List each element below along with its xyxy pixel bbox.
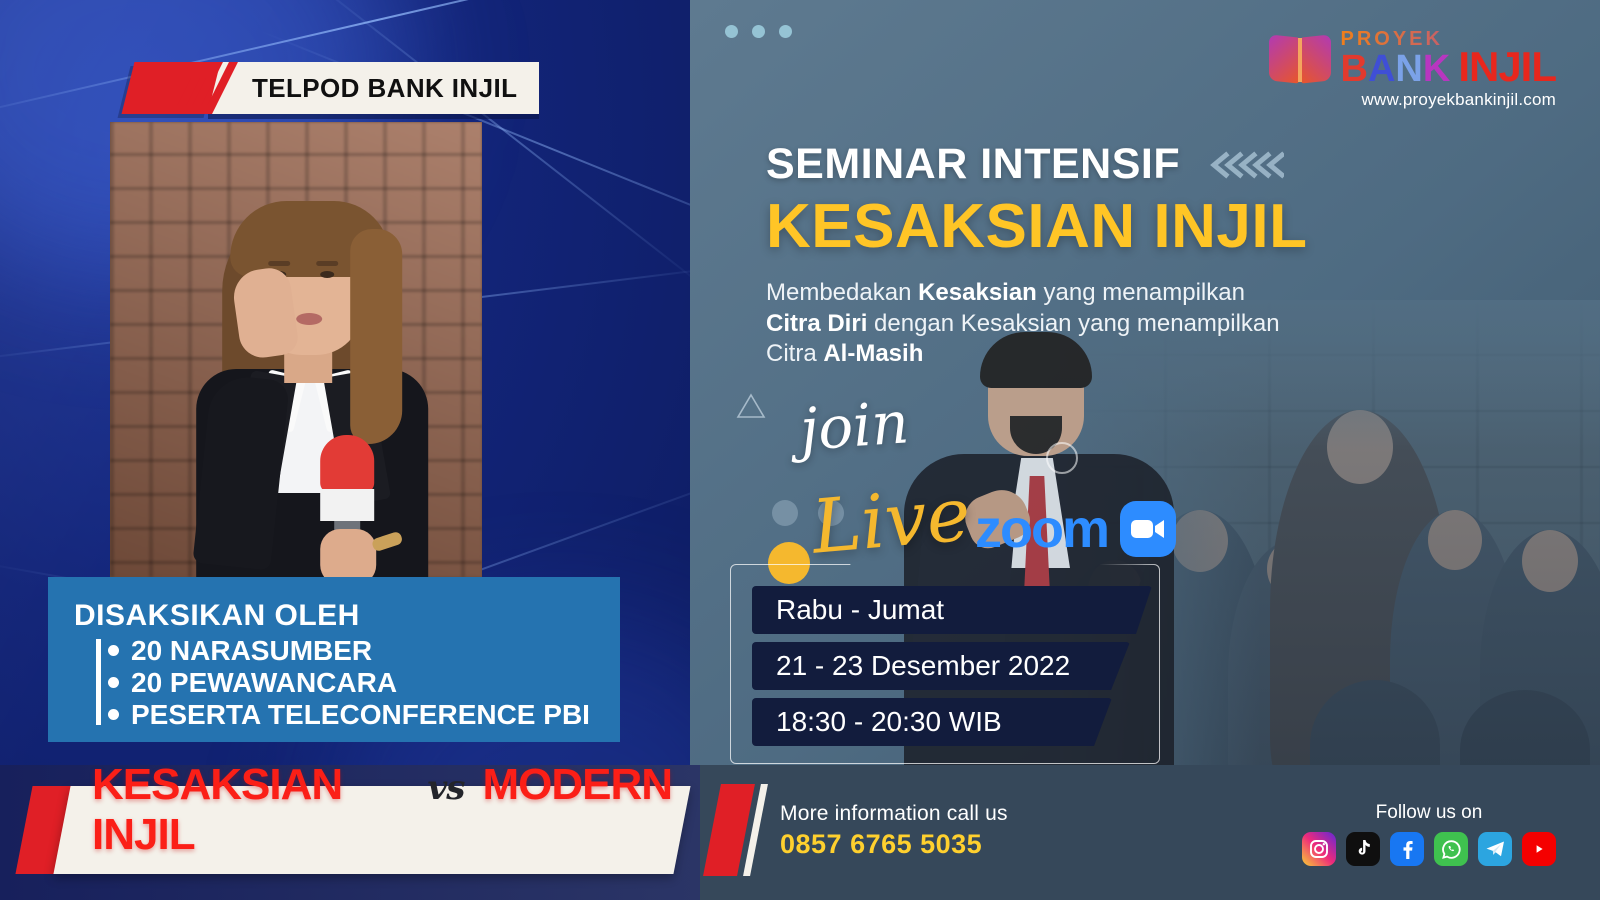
social-icons — [1302, 832, 1556, 866]
zoom-wordmark: zoom — [975, 498, 1108, 560]
logo-letter-n: N — [1395, 52, 1422, 87]
schedule-days: Rabu - Jumat — [752, 586, 1152, 634]
website-url: www.proyekbankinjil.com — [1269, 90, 1557, 110]
list-item-label: 20 PEWAWANCARA — [131, 667, 397, 699]
badge-label: TELPOD BANK INJIL — [208, 62, 539, 114]
banner-right-label: MODERN — [482, 760, 672, 810]
logo-letter-a: A — [1368, 52, 1395, 87]
description-text: Membedakan Kesaksian yang menampilkan Ci… — [766, 278, 1406, 370]
join-script-text: join — [798, 388, 911, 463]
three-dots-decoration — [725, 25, 792, 38]
mouth — [296, 313, 322, 325]
schedule-list: Rabu - Jumat 21 - 23 Desember 2022 18:30… — [752, 586, 1152, 754]
logo-letter-k: K — [1423, 52, 1450, 87]
contact-number[interactable]: 0857 6765 5035 — [780, 829, 1008, 860]
open-book-icon — [1269, 36, 1331, 82]
follow-block: Follow us on — [1302, 802, 1556, 866]
bullet-icon — [108, 645, 119, 656]
telpod-badge: TELPOD BANK INJIL — [128, 62, 539, 114]
info-list: 20 NARASUMBER 20 PEWAWANCARA PESERTA TEL… — [74, 635, 594, 731]
headline-line-2: KESAKSIAN INJIL — [766, 191, 1526, 262]
banner-text: KESAKSIAN INJIL vs MODERN — [92, 760, 672, 860]
eyebrow — [316, 261, 338, 266]
logo-wordmark: PROYEK B A N K INJIL — [1341, 30, 1557, 87]
microphone-head — [320, 435, 374, 493]
whatsapp-icon[interactable] — [1434, 832, 1468, 866]
list-item: 20 PEWAWANCARA — [108, 667, 594, 699]
list-item: PESERTA TELECONFERENCE PBI — [108, 699, 594, 731]
witnessed-by-box: DISAKSIKAN OLEH 20 NARASUMBER 20 PEWAWAN… — [48, 577, 620, 742]
list-item-label: 20 NARASUMBER — [131, 635, 372, 667]
contact-label: More information call us — [780, 802, 1008, 826]
schedule-time: 18:30 - 20:30 WIB — [752, 698, 1112, 746]
banner-vs-label: vs — [428, 768, 465, 808]
youtube-icon[interactable] — [1522, 832, 1556, 866]
logo-injil: INJIL — [1458, 48, 1556, 87]
instagram-icon[interactable] — [1302, 832, 1336, 866]
desc-bold: Citra Diri — [766, 310, 867, 337]
triangle-outline-icon — [735, 392, 767, 425]
telegram-icon[interactable] — [1478, 832, 1512, 866]
bullet-icon — [108, 709, 119, 720]
desc-part: yang menampilkan — [1037, 279, 1245, 306]
desc-bold: Kesaksian — [918, 279, 1037, 306]
list-item: 20 NARASUMBER — [108, 635, 594, 667]
badge-red-block — [122, 62, 221, 114]
desc-part: Membedakan — [766, 279, 918, 306]
follow-label: Follow us on — [1302, 802, 1556, 824]
headline-block: SEMINAR INTENSIF KESAKSIAN INJIL — [766, 140, 1526, 262]
microphone-band — [320, 489, 374, 521]
bottom-bar: KESAKSIAN INJIL vs MODERN More informati… — [0, 765, 1600, 900]
headline-line-1: SEMINAR INTENSIF — [766, 140, 1180, 189]
live-script-text: Live — [809, 471, 974, 570]
info-title: DISAKSIKAN OLEH — [74, 599, 594, 633]
eyebrow — [268, 261, 290, 266]
brand-logo: PROYEK B A N K INJIL www.proyekbankinjil… — [1269, 30, 1557, 110]
desc-part: dengan Kesaksian yang menampilkan — [867, 310, 1279, 337]
desc-part: Citra — [766, 340, 823, 367]
hand-holding-microphone — [320, 529, 376, 577]
video-camera-icon — [1120, 501, 1176, 557]
eye — [320, 271, 334, 278]
facebook-icon[interactable] — [1390, 832, 1424, 866]
seminar-poster: TELPOD BANK INJIL DISAKSIKAN OLEH 20 NAR… — [0, 0, 1600, 900]
zoom-logo: zoom — [975, 498, 1176, 560]
reporter-figure — [144, 177, 474, 577]
logo-letter-b: B — [1341, 52, 1368, 87]
contact-block: More information call us 0857 6765 5035 — [780, 802, 1008, 860]
hair-side — [350, 229, 402, 444]
bullet-icon — [108, 677, 119, 688]
reporter-photo — [110, 122, 482, 577]
schedule-date: 21 - 23 Desember 2022 — [752, 642, 1130, 690]
desc-bold: Al-Masih — [823, 340, 923, 367]
banner-left-label: KESAKSIAN INJIL — [92, 760, 410, 860]
tiktok-icon[interactable] — [1346, 832, 1380, 866]
list-item-label: PESERTA TELECONFERENCE PBI — [131, 699, 590, 731]
circle-outline-icon — [1046, 442, 1078, 474]
chevron-left-icons — [1206, 150, 1284, 180]
